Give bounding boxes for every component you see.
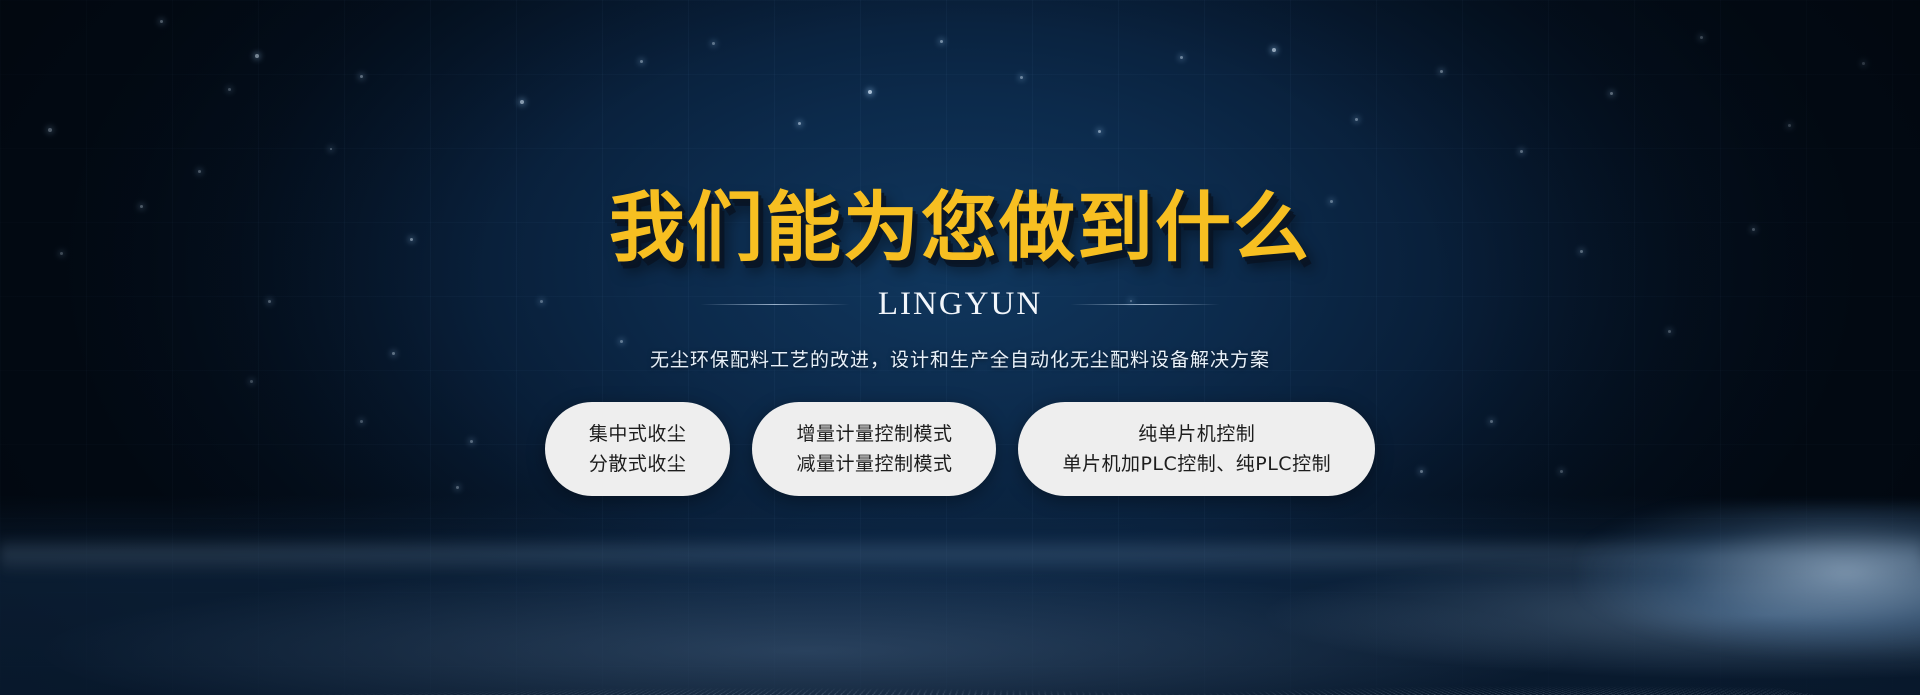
pill-line: 纯单片机控制 <box>1138 424 1255 445</box>
pill-line: 单片机加PLC控制、纯PLC控制 <box>1062 454 1331 475</box>
brand-name: LINGYUN <box>878 286 1042 323</box>
feature-pill-group: 集中式收尘 分散式收尘 增量计量控制模式 减量计量控制模式 纯单片机控制 单片机… <box>545 402 1375 496</box>
tagline: 无尘环保配料工艺的改进，设计和生产全自动化无尘配料设备解决方案 <box>650 345 1270 372</box>
pill-line: 分散式收尘 <box>589 454 687 475</box>
banner-content: 我们能为您做到什么 LINGYUN 无尘环保配料工艺的改进，设计和生产全自动化无… <box>0 0 1920 695</box>
feature-pill-control-system[interactable]: 纯单片机控制 单片机加PLC控制、纯PLC控制 <box>1018 402 1375 496</box>
feature-pill-metering-mode[interactable]: 增量计量控制模式 减量计量控制模式 <box>752 402 996 496</box>
brand-row: LINGYUN <box>700 286 1220 323</box>
hero-banner: 我们能为您做到什么 LINGYUN 无尘环保配料工艺的改进，设计和生产全自动化无… <box>0 0 1920 695</box>
divider-left <box>700 304 850 305</box>
feature-pill-dust-collection[interactable]: 集中式收尘 分散式收尘 <box>545 402 731 496</box>
page-title: 我们能为您做到什么 <box>609 190 1311 266</box>
pill-line: 集中式收尘 <box>589 424 687 445</box>
divider-right <box>1070 304 1220 305</box>
pill-line: 减量计量控制模式 <box>796 454 952 475</box>
pill-line: 增量计量控制模式 <box>796 424 952 445</box>
